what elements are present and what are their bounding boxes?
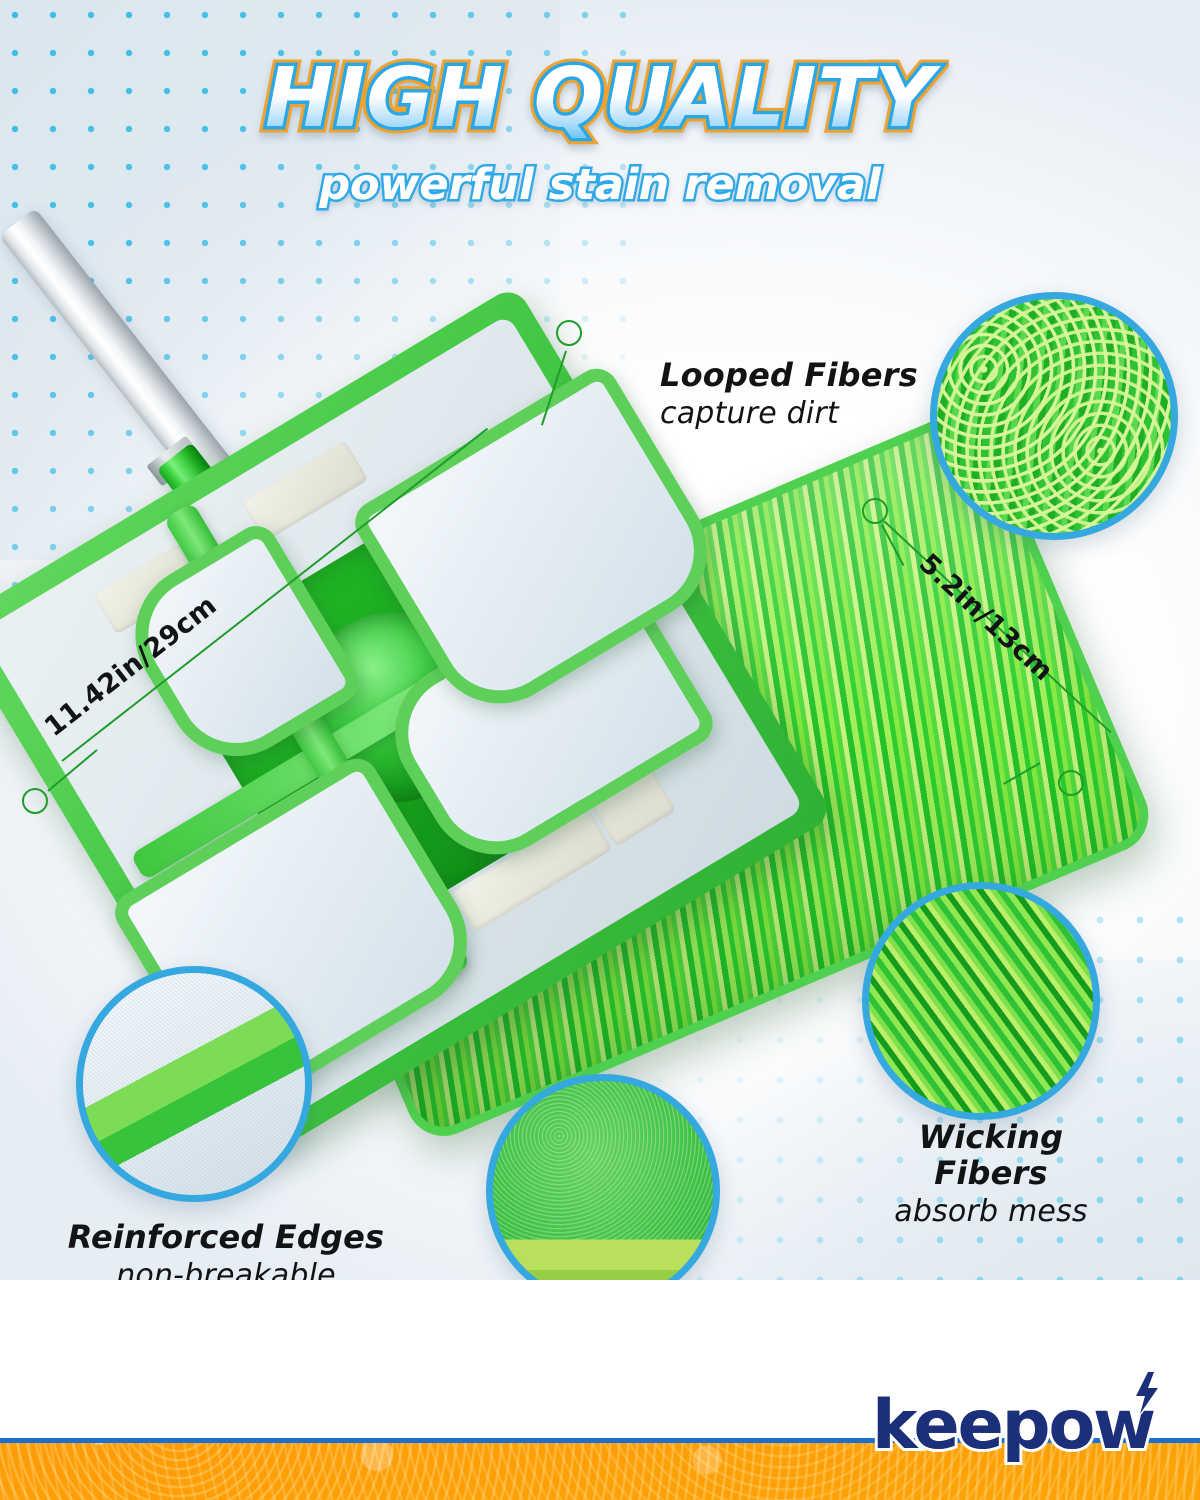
dimension-length-marker-end xyxy=(22,788,48,814)
page-title: HIGH QUALITYHIGH QUALITYHIGH QUALITY xyxy=(265,58,935,140)
brand-logo: keepowkeepow xyxy=(872,1392,1154,1460)
callout-wicking-fibers: Wicking Fibers absorb mess xyxy=(866,1120,1116,1228)
detail-circle-looped-fibers xyxy=(930,292,1178,540)
page-subtitle: powerful stain removalpowerful stain rem… xyxy=(319,160,880,210)
detail-circle-reinforced-edges xyxy=(76,966,312,1202)
dimension-length-marker-start xyxy=(556,320,582,346)
detail-circle-absorbent-sponge xyxy=(486,1074,720,1308)
detail-circle-wicking-fibers xyxy=(862,882,1100,1120)
page-subtitle-fill: powerful stain removal xyxy=(319,160,880,210)
callout-wicking-fibers-subtitle: absorb mess xyxy=(866,1195,1116,1229)
callout-looped-fibers-subtitle: capture dirt xyxy=(660,397,918,431)
callout-looped-fibers-title: Looped Fibers xyxy=(660,358,918,394)
brand-logo-fill: keepow xyxy=(872,1392,1154,1460)
dimension-width-marker-end xyxy=(1058,770,1084,796)
lightning-bolt-icon xyxy=(1132,1372,1162,1414)
dimension-width-marker-start xyxy=(862,498,888,524)
header: HIGH QUALITYHIGH QUALITYHIGH QUALITY pow… xyxy=(0,58,1200,210)
page-title-gradient-fill: HIGH QUALITY xyxy=(265,58,935,140)
callout-looped-fibers: Looped Fibers capture dirt xyxy=(660,358,918,430)
callout-reinforced-edges-title: Reinforced Edges xyxy=(56,1220,396,1256)
callout-wicking-fibers-title: Wicking Fibers xyxy=(866,1120,1116,1192)
infographic-canvas: HIGH QUALITYHIGH QUALITYHIGH QUALITY pow… xyxy=(0,0,1200,1500)
